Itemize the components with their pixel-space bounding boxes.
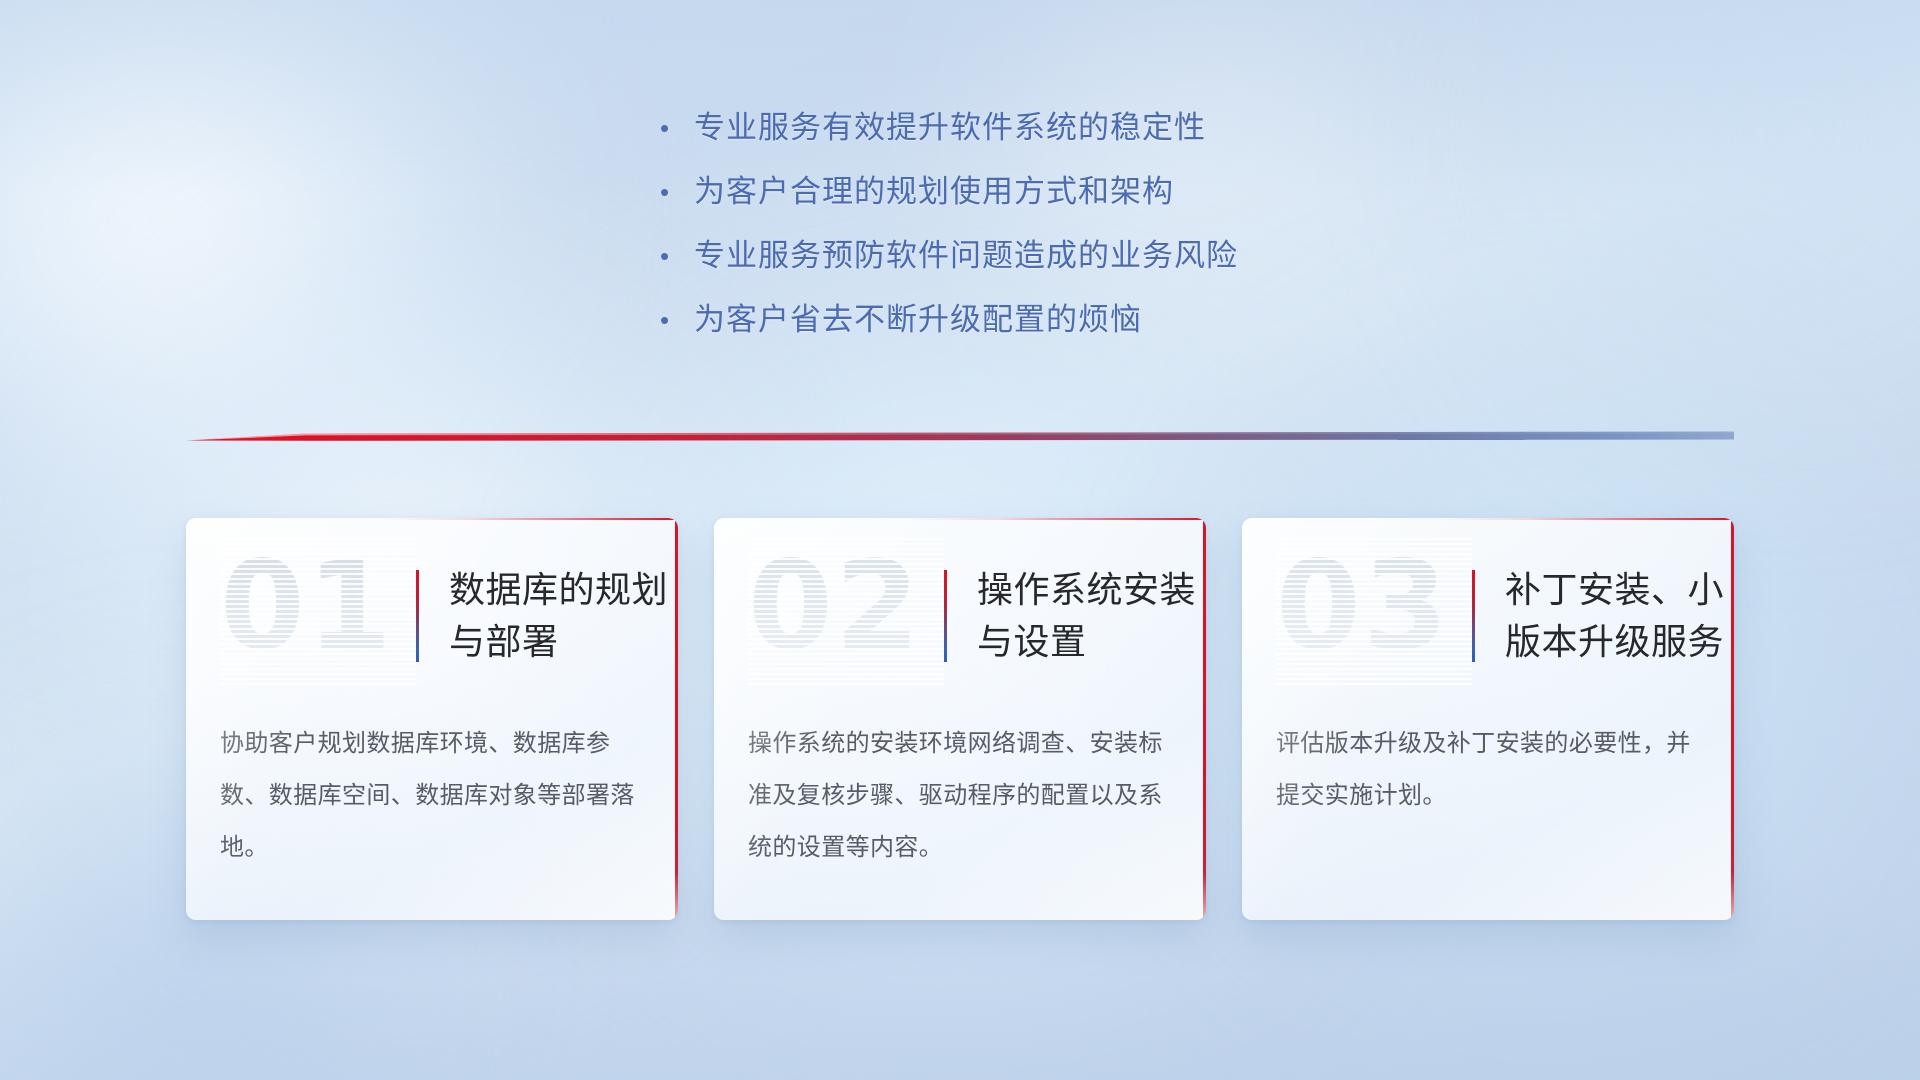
card-number-watermark: 03 xyxy=(1276,551,1472,681)
divider-shape-icon xyxy=(186,424,1734,450)
card-header: 02 操作系统安装与设置 xyxy=(714,518,1206,714)
card-list: 01 数据库的规划与部署 协助客户规划数据库环境、数据库参数、数据库空间、数据库… xyxy=(186,518,1734,928)
card-number-watermark: 02 xyxy=(748,551,944,681)
list-item: • 为客户省去不断升级配置的烦恼 xyxy=(660,298,1420,362)
card-02[interactable]: 02 操作系统安装与设置 操作系统的安装环境网络调查、安装标准及复核步骤、驱动程… xyxy=(714,518,1206,920)
bullet-text: 专业服务预防软件问题造成的业务风险 xyxy=(694,234,1238,278)
card-title-divider xyxy=(1472,570,1475,662)
bullet-marker-icon: • xyxy=(660,170,694,214)
bullet-marker-icon: • xyxy=(660,106,694,150)
card-number-text: 01 xyxy=(220,535,394,677)
card-title-divider xyxy=(944,570,947,662)
bullet-marker-icon: • xyxy=(660,234,694,278)
list-item: • 专业服务有效提升软件系统的稳定性 xyxy=(660,106,1420,170)
bullet-text: 为客户合理的规划使用方式和架构 xyxy=(694,170,1174,214)
card-title: 数据库的规划与部署 xyxy=(449,564,678,668)
card-title: 补丁安装、小版本升级服务 xyxy=(1505,564,1734,668)
card-header: 01 数据库的规划与部署 xyxy=(186,518,678,714)
list-item: • 专业服务预防软件问题造成的业务风险 xyxy=(660,234,1420,298)
card-number-watermark: 01 xyxy=(220,551,416,681)
card-number-text: 03 xyxy=(1276,535,1450,677)
section-divider xyxy=(186,424,1734,450)
bullet-text: 专业服务有效提升软件系统的稳定性 xyxy=(694,106,1206,150)
card-title-divider xyxy=(416,570,419,662)
card-title: 操作系统安装与设置 xyxy=(977,564,1206,668)
card-header: 03 补丁安装、小版本升级服务 xyxy=(1242,518,1734,714)
bullet-list: • 专业服务有效提升软件系统的稳定性 • 为客户合理的规划使用方式和架构 • 专… xyxy=(660,106,1420,362)
bullet-marker-icon: • xyxy=(660,298,694,342)
card-01[interactable]: 01 数据库的规划与部署 协助客户规划数据库环境、数据库参数、数据库空间、数据库… xyxy=(186,518,678,920)
bullet-text: 为客户省去不断升级配置的烦恼 xyxy=(694,298,1142,342)
list-item: • 为客户合理的规划使用方式和架构 xyxy=(660,170,1420,234)
card-number-text: 02 xyxy=(748,535,922,677)
card-03[interactable]: 03 补丁安装、小版本升级服务 评估版本升级及补丁安装的必要性，并提交实施计划。 xyxy=(1242,518,1734,920)
